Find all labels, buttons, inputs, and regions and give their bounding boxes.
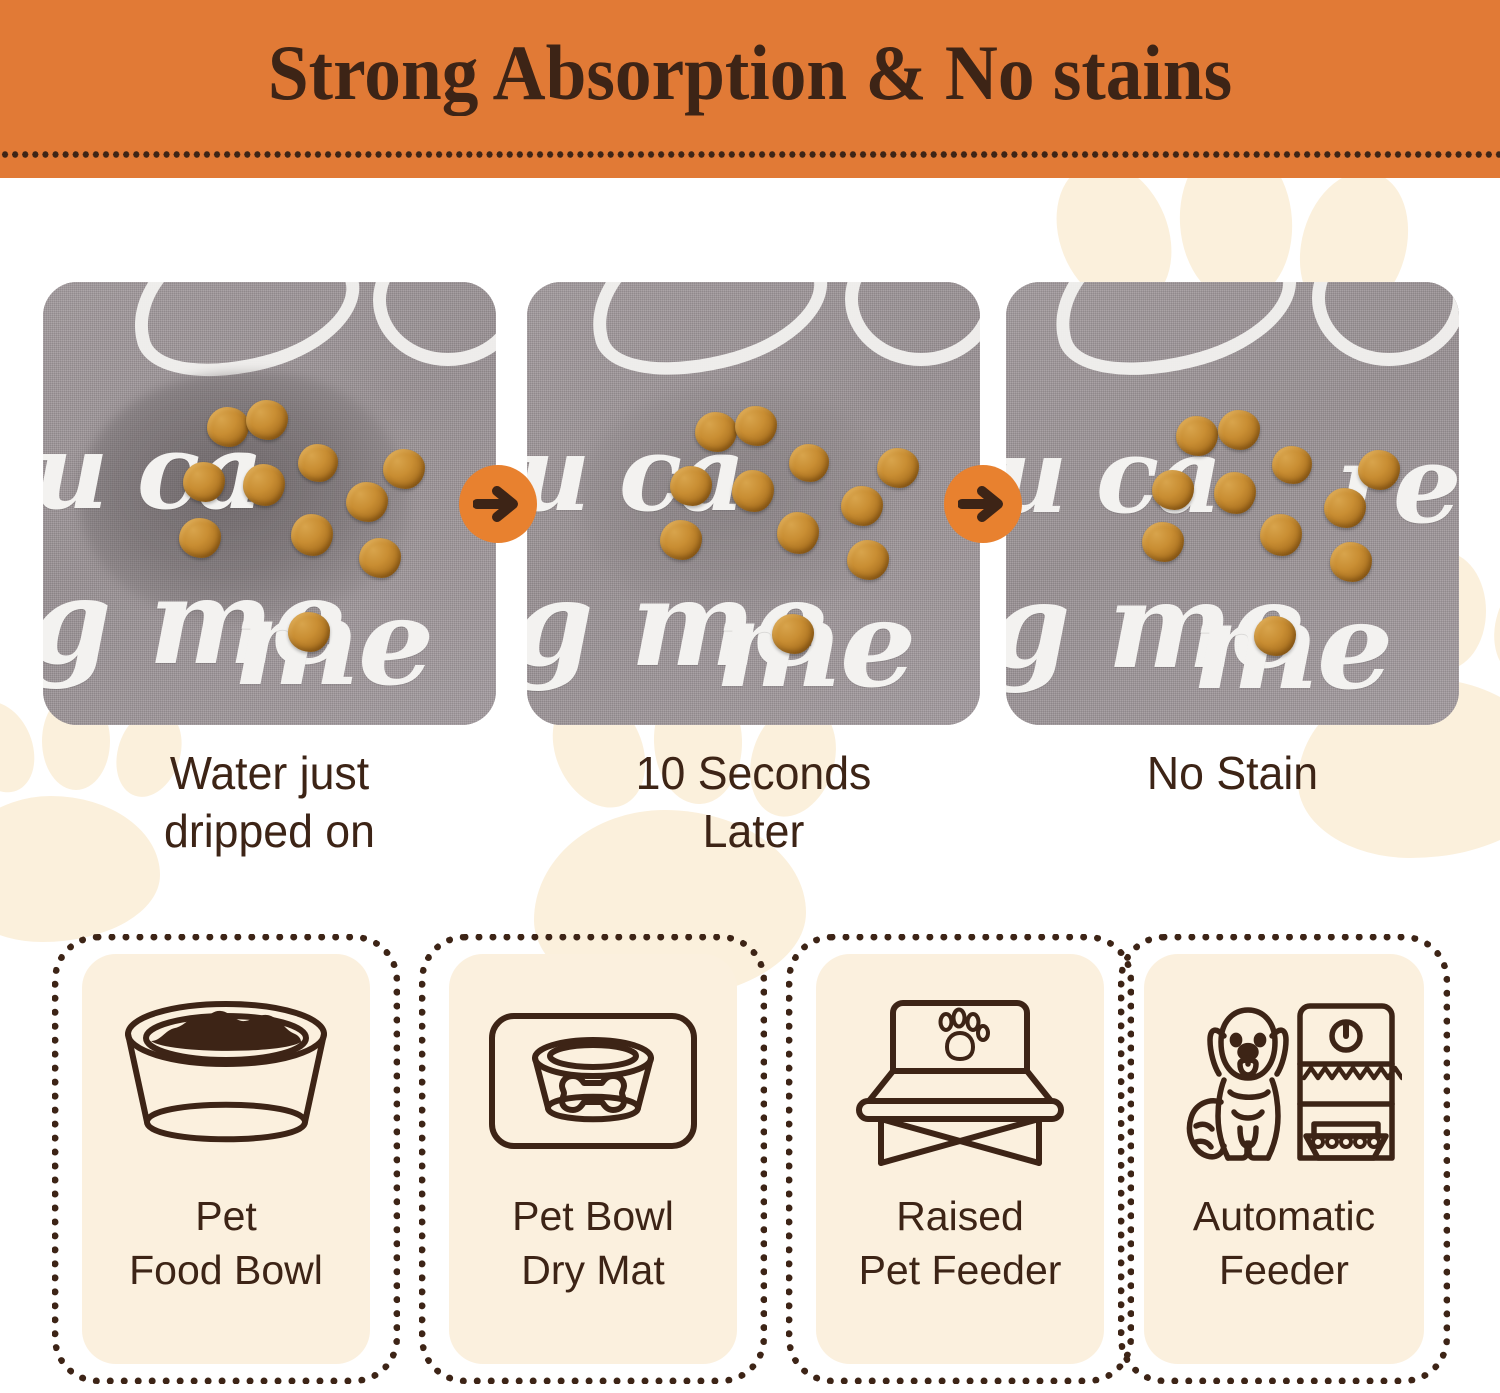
kibble-piece xyxy=(179,518,221,558)
kibble-piece xyxy=(670,466,712,506)
kibble-piece xyxy=(735,406,777,446)
comparison-photo-2: u ca g me me xyxy=(527,282,980,725)
kibble-piece xyxy=(298,444,338,482)
comparison-photo-3: u ca re g me me xyxy=(1006,282,1459,725)
kibble-piece xyxy=(359,538,401,578)
kibble-piece xyxy=(660,520,702,560)
comparison-caption-3: No Stain xyxy=(1013,744,1452,802)
kibble-piece xyxy=(1214,472,1256,514)
kibble-piece xyxy=(291,514,333,556)
use-case-card-pet-bowl-dry-mat[interactable]: Pet Bowl Dry Mat xyxy=(419,934,767,1384)
use-case-card-label: Pet Food Bowl xyxy=(129,1189,323,1297)
use-case-card-label: Automatic Feeder xyxy=(1193,1189,1375,1297)
kibble-piece xyxy=(789,444,829,482)
raised-pet-feeder-icon xyxy=(840,988,1080,1173)
kibble-piece xyxy=(1254,616,1296,656)
kibble-piece xyxy=(243,464,285,506)
kibble-piece xyxy=(841,486,883,526)
kibble-piece xyxy=(732,470,774,512)
page-title: Strong Absorption & No stains xyxy=(45,30,1455,116)
kibble-piece xyxy=(695,412,737,452)
comparison-caption-2: 10 Seconds Later xyxy=(534,744,973,860)
kibble-piece xyxy=(1272,446,1312,484)
absorption-comparison: u ca g me me u ca g me me xyxy=(0,178,1500,908)
automatic-feeder-icon xyxy=(1164,988,1404,1173)
arrow-right-icon xyxy=(944,465,1022,543)
kibble-piece xyxy=(246,400,288,440)
kibble-piece xyxy=(1142,522,1184,562)
kibble-piece xyxy=(1324,488,1366,528)
arrow-right-icon xyxy=(459,465,537,543)
kibble-piece xyxy=(346,482,388,522)
kibble-piece xyxy=(1330,542,1372,582)
kibble-piece xyxy=(288,612,330,652)
use-case-cards: Pet Food Bowl xyxy=(0,908,1500,1393)
kibble-piece xyxy=(207,407,249,447)
kibble-piece xyxy=(1218,410,1260,450)
use-case-card-label: Raised Pet Feeder xyxy=(859,1189,1062,1297)
kibble-piece xyxy=(1358,450,1400,490)
kibble-piece xyxy=(847,540,889,580)
use-case-card-raised-pet-feeder[interactable]: Raised Pet Feeder xyxy=(786,934,1134,1384)
dotted-divider-icon xyxy=(0,148,1500,160)
kibble-piece xyxy=(772,614,814,654)
use-case-card-label: Pet Bowl Dry Mat xyxy=(512,1189,674,1297)
comparison-photo-1: u ca g me me xyxy=(43,282,496,725)
kibble-piece xyxy=(1176,416,1218,456)
pet-bowl-dry-mat-icon xyxy=(473,988,713,1173)
kibble-piece xyxy=(1152,470,1194,510)
kibble-piece xyxy=(777,512,819,554)
use-case-card-pet-food-bowl[interactable]: Pet Food Bowl xyxy=(52,934,400,1384)
infographic-page: Strong Absorption & No stains u ca g me … xyxy=(0,0,1500,1393)
kibble-piece xyxy=(183,462,225,502)
kibble-piece xyxy=(1260,514,1302,556)
use-case-card-automatic-feeder[interactable]: Automatic Feeder xyxy=(1118,934,1450,1384)
kibble-piece xyxy=(877,448,919,488)
pet-food-bowl-icon xyxy=(106,988,346,1173)
header-banner: Strong Absorption & No stains xyxy=(0,0,1500,178)
kibble-piece xyxy=(383,449,425,489)
comparison-caption-1: Water just dripped on xyxy=(50,744,489,860)
